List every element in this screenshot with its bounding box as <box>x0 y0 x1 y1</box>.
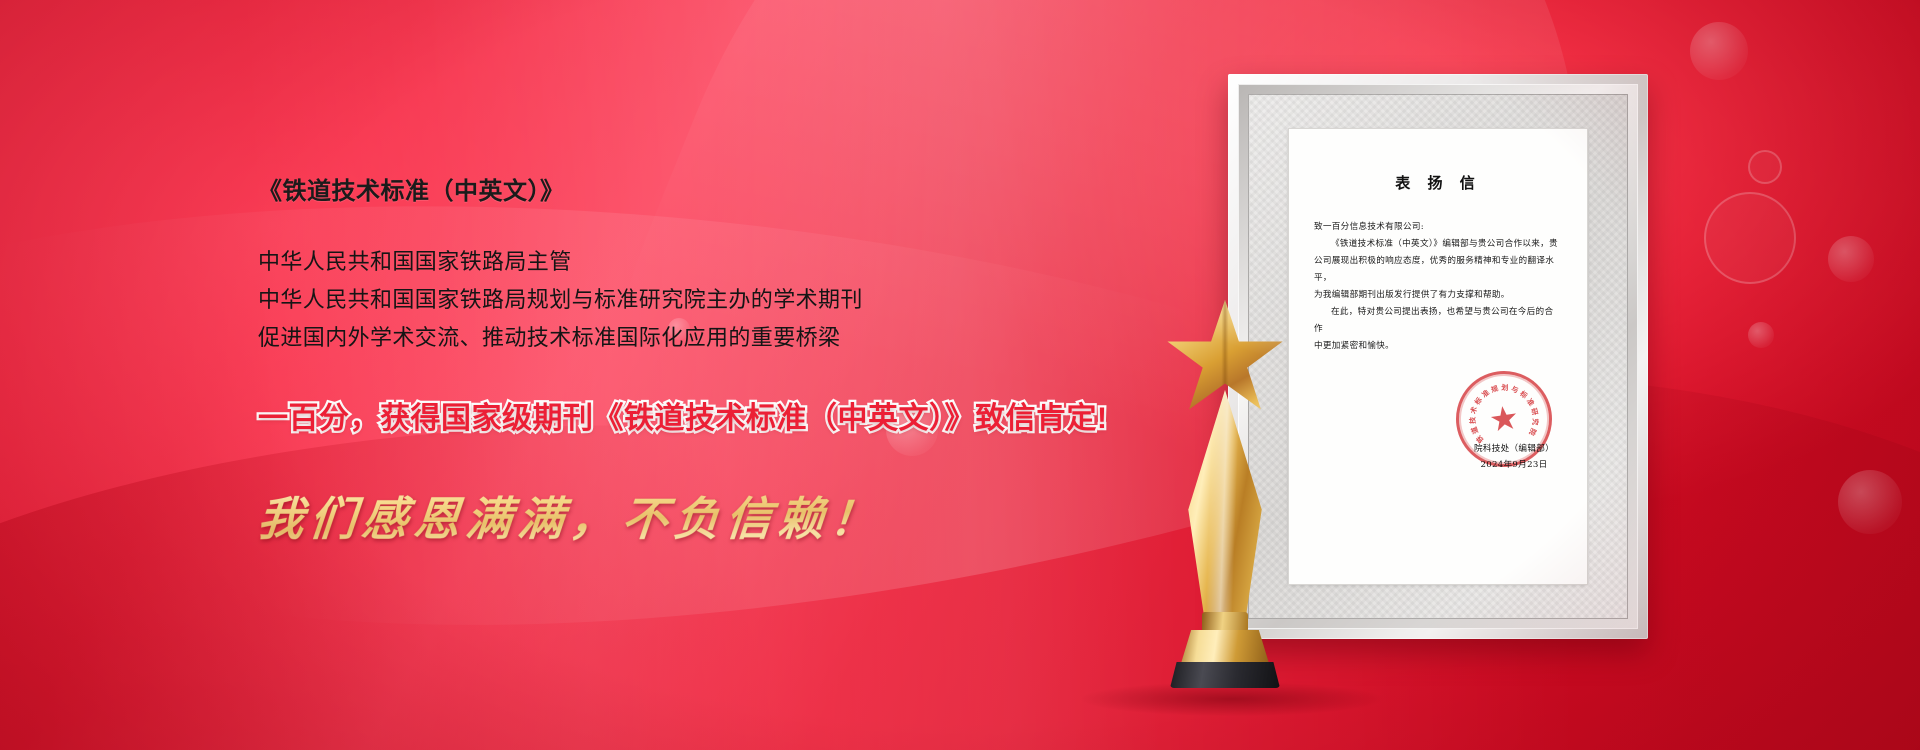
vignette-overlay <box>0 0 1920 750</box>
promo-banner: 《铁道技术标准（中英文）》 中华人民共和国国家铁路局主管 中华人民共和国国家铁路… <box>0 0 1920 750</box>
